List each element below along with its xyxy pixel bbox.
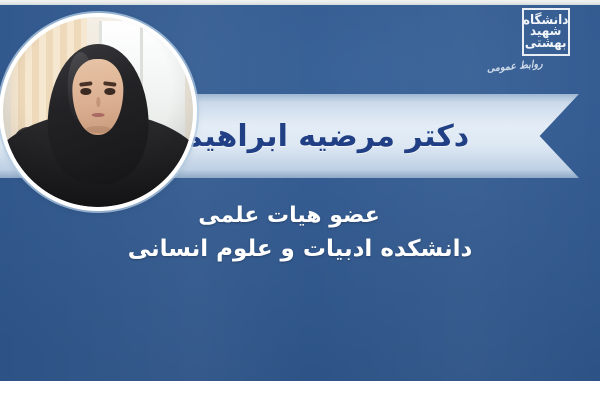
portrait-eye-left	[81, 88, 92, 94]
bottom-white-strip	[0, 381, 600, 400]
faculty-profile-card: دانشگاه شهید بهشتی روابط عمومی	[0, 0, 600, 400]
portrait-eyebrow-right	[103, 81, 117, 86]
portrait-mouth	[91, 113, 104, 118]
logo-calligraphy: دانشگاه شهید بهشتی	[523, 15, 568, 49]
top-edge-strip	[0, 0, 600, 5]
logo-subtitle-public-relations: روابط عمومی	[486, 56, 574, 75]
university-logo: دانشگاه شهید بهشتی روابط عمومی	[480, 6, 576, 82]
subtitle-faculty: دانشکده ادبیات و علوم انسانی	[0, 233, 600, 266]
portrait-photo	[3, 17, 193, 207]
portrait-eyebrow-left	[79, 81, 93, 86]
subtitle-role: عضو هیات علمی	[0, 200, 600, 231]
logo-line-3: بهشتی	[525, 38, 567, 49]
portrait-chin-shadow	[85, 126, 111, 134]
portrait-eye-right	[105, 88, 116, 94]
avatar	[3, 17, 193, 207]
portrait-nose	[96, 97, 100, 108]
logo-emblem-box: دانشگاه شهید بهشتی	[522, 8, 570, 56]
subtitle-block: عضو هیات علمی دانشکده ادبیات و علوم انسا…	[0, 200, 600, 266]
